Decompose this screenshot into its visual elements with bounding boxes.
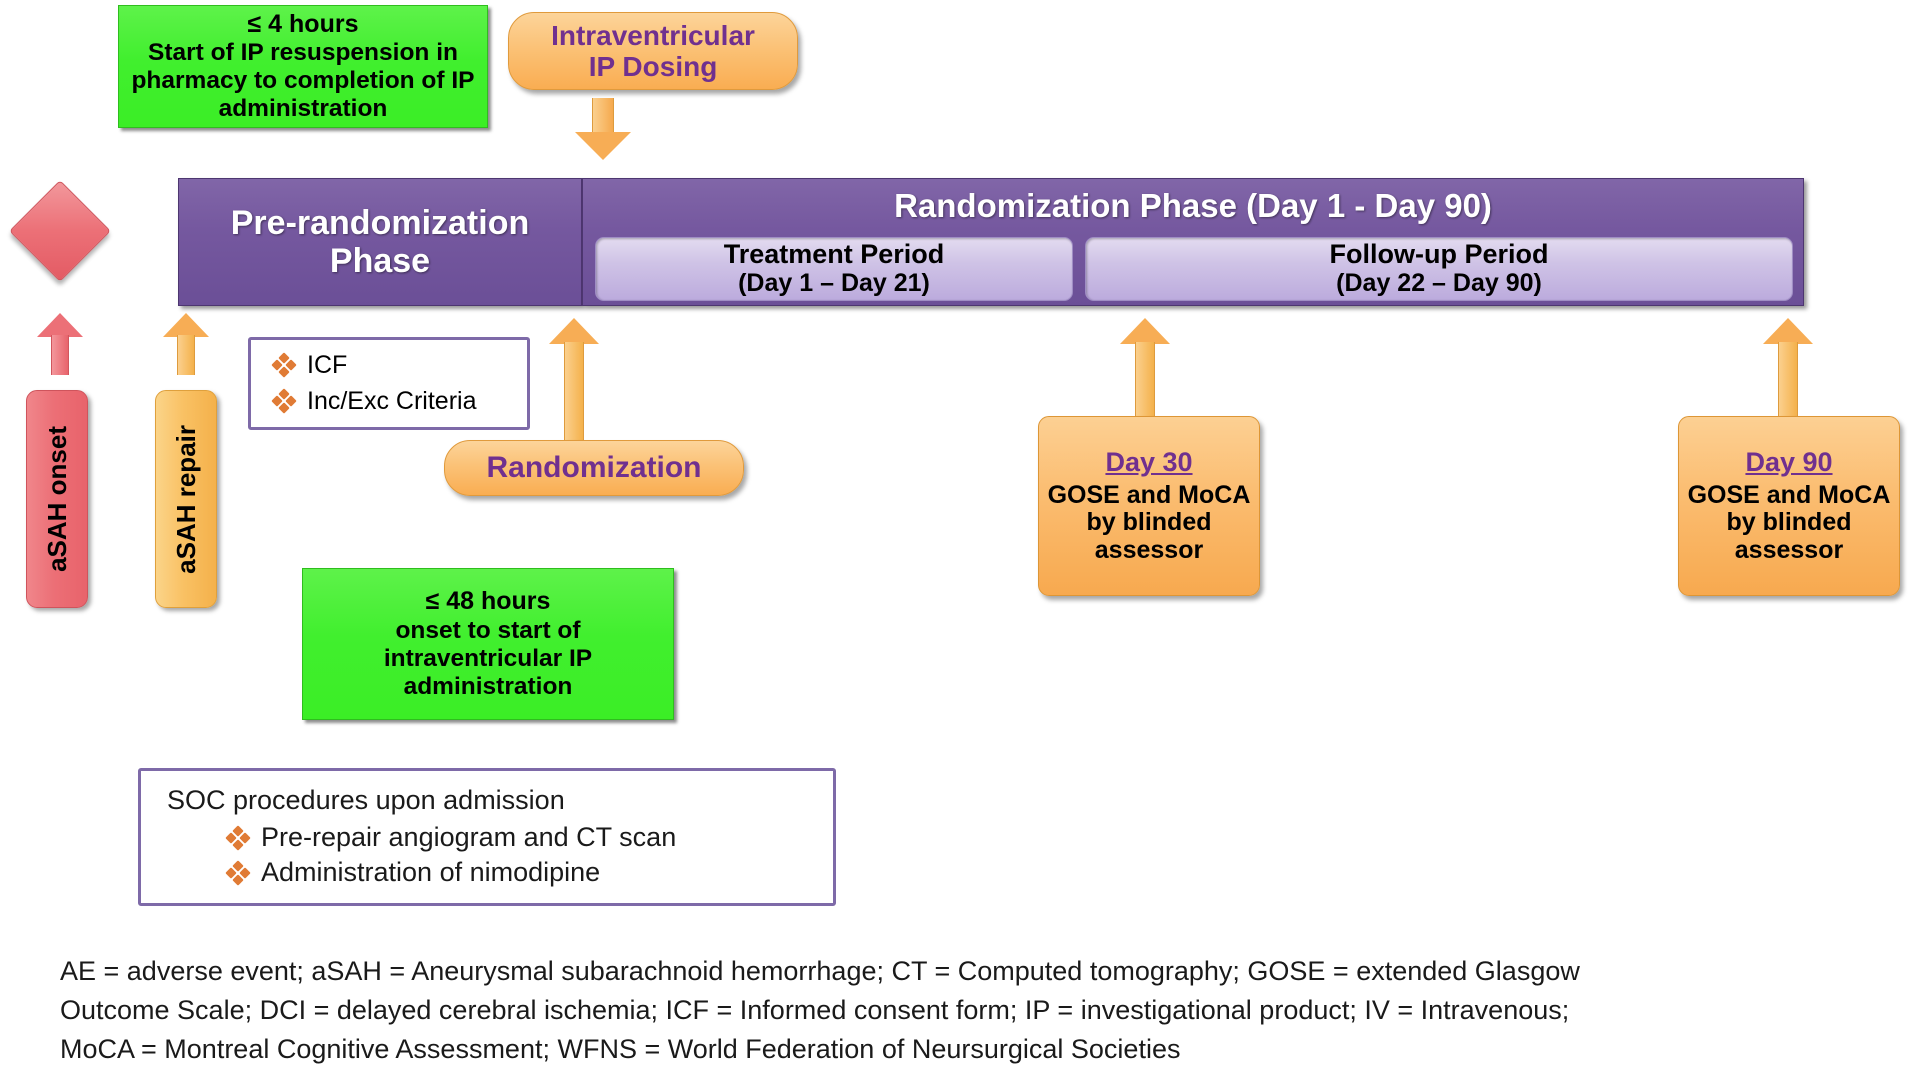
soc-item-label: Administration of nimodipine (261, 857, 600, 888)
treatment-period-range: (Day 1 – Day 21) (738, 270, 930, 298)
criteria-item-label: Inc/Exc Criteria (307, 386, 476, 416)
randomization-phase-title: Randomization Phase (Day 1 - Day 90) (583, 179, 1803, 225)
pre-randomization-phase-bar: Pre-randomization Phase (178, 178, 582, 306)
diamond-bullet-icon (227, 827, 249, 849)
intraventricular-ip-dosing-pill[interactable]: Intraventricular IP Dosing (508, 12, 798, 90)
timing-box-ip-resuspension: ≤ 4 hours Start of IP resuspension in ph… (118, 5, 488, 128)
soc-box-title: SOC procedures upon admission (167, 785, 833, 816)
criteria-item-label: ICF (307, 350, 347, 380)
treatment-period-box: Treatment Period (Day 1 – Day 21) (595, 237, 1073, 301)
event-marker-asah-repair: aSAH repair (155, 390, 217, 608)
asah-repair-arrow (162, 313, 210, 375)
day-90-arrow (1762, 318, 1814, 418)
followup-period-range: (Day 22 – Day 90) (1336, 270, 1542, 298)
dosing-pill-line2: IP Dosing (589, 51, 718, 82)
diamond-bullet-icon (227, 862, 249, 884)
assessment-card-day-30[interactable]: Day 30 GOSE and MoCA by blinded assessor (1038, 416, 1260, 596)
timing-box-header: ≤ 48 hours (426, 587, 551, 616)
pre-randomization-line2: Phase (231, 242, 529, 280)
pre-randomization-line1: Pre-randomization (231, 204, 529, 242)
dosing-pill-line1: Intraventricular (551, 20, 755, 51)
assessment-card-day-90[interactable]: Day 90 GOSE and MoCA by blinded assessor (1678, 416, 1900, 596)
followup-period-box: Follow-up Period (Day 22 – Day 90) (1085, 237, 1793, 301)
soc-list-item: Administration of nimodipine (167, 857, 833, 888)
asah-onset-arrow (36, 313, 84, 375)
criteria-item: Inc/Exc Criteria (273, 386, 527, 416)
timing-box-body: onset to start of intraventricular IP ad… (311, 617, 665, 701)
treatment-period-name: Treatment Period (724, 240, 945, 270)
followup-period-name: Follow-up Period (1330, 240, 1549, 270)
randomization-pill-label: Randomization (487, 451, 702, 485)
soc-list-item: Pre-repair angiogram and CT scan (167, 822, 833, 853)
day-90-label: Day 90 (1745, 448, 1832, 478)
soc-procedures-box: SOC procedures upon admission Pre-repair… (138, 768, 836, 906)
timing-box-header: ≤ 4 hours (248, 10, 359, 39)
footnote-line-2: Outcome Scale; DCI = delayed cerebral is… (60, 991, 1860, 1030)
criteria-item: ICF (273, 350, 527, 380)
day-90-description: GOSE and MoCA by blinded assessor (1685, 482, 1893, 565)
randomization-arrow (548, 318, 600, 446)
randomization-phase-bar: Randomization Phase (Day 1 - Day 90) Tre… (582, 178, 1804, 306)
asah-repair-label: aSAH repair (171, 425, 202, 574)
diamond-bullet-icon (273, 354, 295, 376)
criteria-box: ICF Inc/Exc Criteria (248, 337, 530, 430)
diagram-canvas: ≤ 4 hours Start of IP resuspension in ph… (0, 0, 1918, 1078)
randomization-pill[interactable]: Randomization (444, 440, 744, 496)
footnote-line-3: MoCA = Montreal Cognitive Assessment; WF… (60, 1030, 1860, 1069)
footnote-line-1: AE = adverse event; aSAH = Aneurysmal su… (60, 952, 1860, 991)
soc-item-label: Pre-repair angiogram and CT scan (261, 822, 676, 853)
day-30-arrow (1119, 318, 1171, 418)
abbreviations-footnote: AE = adverse event; aSAH = Aneurysmal su… (60, 952, 1860, 1069)
day-30-label: Day 30 (1105, 448, 1192, 478)
asah-onset-label: aSAH onset (42, 426, 73, 572)
dosing-to-phase-arrow (575, 98, 631, 160)
timing-box-onset-to-ip: ≤ 48 hours onset to start of intraventri… (302, 568, 674, 720)
timing-box-body: Start of IP resuspension in pharmacy to … (127, 39, 479, 123)
diamond-bullet-icon (273, 390, 295, 412)
day-30-description: GOSE and MoCA by blinded assessor (1045, 482, 1253, 565)
event-marker-asah-onset: aSAH onset (26, 390, 88, 608)
asah-onset-diamond-icon (9, 180, 111, 282)
